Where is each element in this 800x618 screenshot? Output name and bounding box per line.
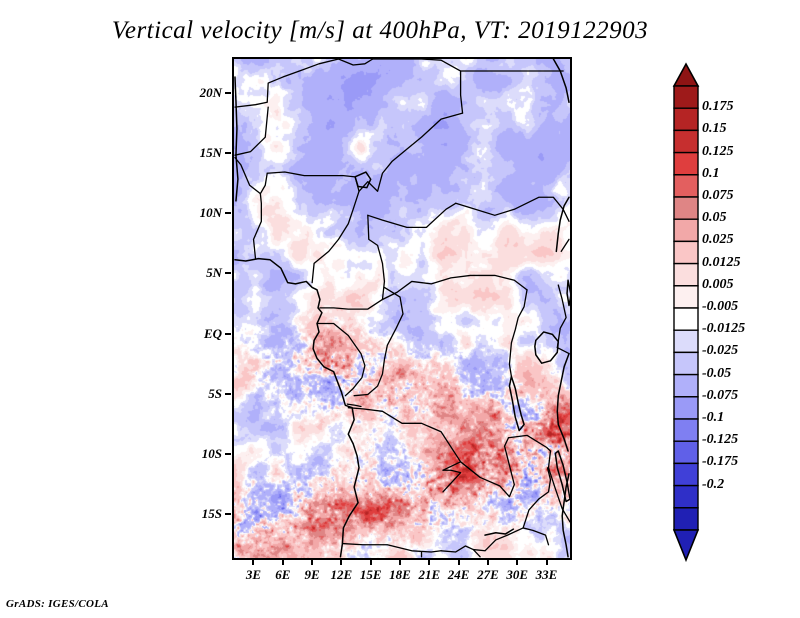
colorbar-label-0p075: 0.075 xyxy=(702,188,734,204)
coastline xyxy=(557,354,569,451)
colorbar-label-neg0p0125: -0.0125 xyxy=(702,321,745,337)
country-border xyxy=(561,239,569,251)
country-border xyxy=(557,285,566,348)
country-border xyxy=(235,158,267,194)
colorbar-segment xyxy=(674,441,698,463)
country-border xyxy=(563,209,569,221)
country-border xyxy=(320,299,383,309)
colorbar-segment xyxy=(674,308,698,330)
colorbar-label-neg0p175: -0.175 xyxy=(702,454,738,470)
lon-tick xyxy=(282,559,284,565)
country-border xyxy=(312,177,359,283)
colorbar-swatches xyxy=(672,62,702,578)
colorbar-segment xyxy=(674,219,698,241)
country-border xyxy=(456,197,563,215)
lat-label-15S: 15S xyxy=(174,506,222,522)
country-border xyxy=(267,172,355,177)
coastline xyxy=(235,259,359,557)
coastline xyxy=(567,280,570,305)
colorbar-segment xyxy=(674,197,698,219)
lon-tick xyxy=(516,559,518,565)
lon-tick xyxy=(428,559,430,565)
colorbar-segment xyxy=(674,130,698,152)
lat-tick xyxy=(225,272,231,274)
colorbar-bottom-arrow xyxy=(674,530,698,560)
colorbar-segment xyxy=(674,264,698,286)
colorbar-label-0p125: 0.125 xyxy=(702,144,734,160)
colorbar-label-0p1: 0.1 xyxy=(702,166,720,182)
colorbar-label-0p005: 0.005 xyxy=(702,277,734,293)
coastline xyxy=(535,332,558,363)
colorbar-segment xyxy=(674,241,698,263)
country-border xyxy=(382,275,527,299)
lat-label-5N: 5N xyxy=(174,265,222,281)
lat-tick xyxy=(225,513,231,515)
lon-label-33E: 33E xyxy=(525,567,569,583)
country-border xyxy=(317,324,365,396)
country-border xyxy=(348,408,460,471)
country-border xyxy=(254,194,262,259)
coastline-border-overlay xyxy=(234,59,570,558)
colorbar-label-neg0p005: -0.005 xyxy=(702,299,738,315)
coastline xyxy=(235,77,238,201)
lon-tick xyxy=(458,559,460,565)
colorbar-segment xyxy=(674,286,698,308)
lat-label-20N: 20N xyxy=(174,85,222,101)
lon-tick xyxy=(487,559,489,565)
colorbar-segment xyxy=(674,153,698,175)
colorbar-label-neg0p05: -0.05 xyxy=(702,366,731,382)
colorbar-top-arrow xyxy=(674,64,698,86)
country-border xyxy=(557,348,569,354)
colorbar-segment xyxy=(674,463,698,485)
grads-plot-window: Vertical velocity [m/s] at 400hPa, VT: 2… xyxy=(0,0,800,618)
map-plot-area[interactable] xyxy=(232,57,572,560)
country-border xyxy=(235,107,268,155)
colorbar-segment xyxy=(674,397,698,419)
attribution-footer: GrADS: IGES/COLA xyxy=(6,598,109,610)
page-title: Vertical velocity [m/s] at 400hPa, VT: 2… xyxy=(0,17,760,45)
country-border xyxy=(443,470,461,492)
country-border xyxy=(509,290,527,377)
lat-tick xyxy=(225,453,231,455)
colorbar-label-0p05: 0.05 xyxy=(702,210,727,226)
colorbar[interactable]: 0.1750.150.1250.10.0750.050.0250.01250.0… xyxy=(672,62,792,578)
country-border xyxy=(339,59,373,65)
colorbar-label-neg0p1: -0.1 xyxy=(702,410,724,426)
colorbar-segment xyxy=(674,486,698,508)
country-border xyxy=(368,203,456,227)
lat-label-5S: 5S xyxy=(174,386,222,402)
colorbar-label-0p025: 0.025 xyxy=(702,232,734,248)
country-border xyxy=(235,59,339,107)
lon-tick xyxy=(370,559,372,565)
country-border xyxy=(359,113,463,191)
colorbar-segment xyxy=(674,175,698,197)
colorbar-label-neg0p2: -0.2 xyxy=(702,477,724,493)
country-border xyxy=(461,438,515,497)
lon-tick xyxy=(340,559,342,565)
colorbar-label-neg0p025: -0.025 xyxy=(702,343,738,359)
colorbar-label-0p175: 0.175 xyxy=(702,99,734,115)
lat-tick xyxy=(225,333,231,335)
lon-tick xyxy=(399,559,401,565)
colorbar-segment xyxy=(674,508,698,530)
lat-label-EQ: EQ xyxy=(174,326,222,342)
colorbar-segment xyxy=(674,86,698,108)
lon-tick xyxy=(311,559,313,565)
lat-tick xyxy=(225,393,231,395)
lon-tick xyxy=(546,559,548,565)
coastline xyxy=(553,59,569,102)
lat-label-15N: 15N xyxy=(174,145,222,161)
coastline xyxy=(509,376,524,430)
colorbar-segment xyxy=(674,352,698,374)
lon-tick xyxy=(252,559,254,565)
colorbar-segment xyxy=(674,419,698,441)
lat-tick xyxy=(225,92,231,94)
lat-tick xyxy=(225,212,231,214)
lat-label-10N: 10N xyxy=(174,205,222,221)
country-border xyxy=(373,59,463,113)
country-border xyxy=(441,528,548,552)
colorbar-segment xyxy=(674,330,698,352)
colorbar-segment xyxy=(674,108,698,130)
country-border xyxy=(354,287,403,395)
colorbar-label-neg0p125: -0.125 xyxy=(702,432,738,448)
country-border xyxy=(508,435,550,451)
colorbar-label-0p0125: 0.0125 xyxy=(702,255,741,271)
colorbar-label-neg0p075: -0.075 xyxy=(702,388,738,404)
country-border xyxy=(368,215,385,299)
country-border xyxy=(342,544,441,552)
lat-tick xyxy=(225,152,231,154)
colorbar-label-0p15: 0.15 xyxy=(702,121,727,137)
lat-label-10S: 10S xyxy=(174,446,222,462)
colorbar-segment xyxy=(674,375,698,397)
country-border xyxy=(523,468,550,528)
